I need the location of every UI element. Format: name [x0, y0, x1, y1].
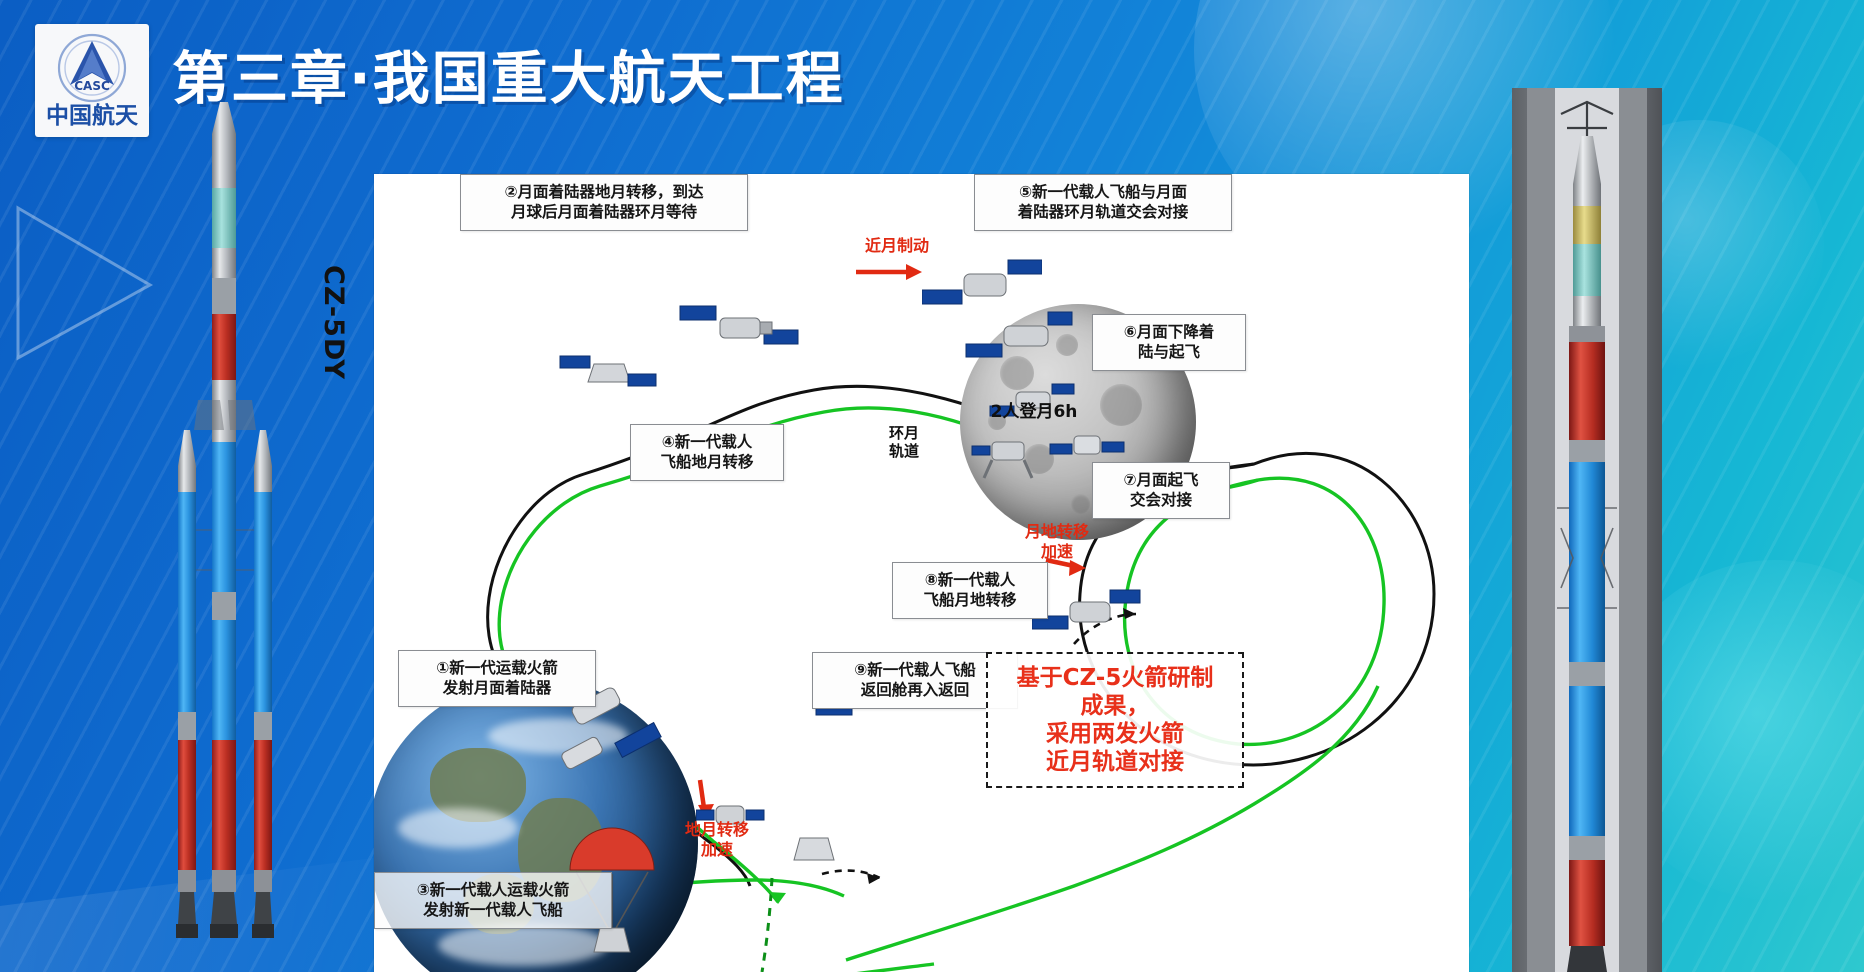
callout-line-4: 近月轨道对接: [996, 748, 1234, 776]
callout-line-1: 基于CZ-5火箭研制: [996, 664, 1234, 692]
step-label-3: ③新一代载人运载火箭发射新一代载人飞船: [374, 872, 612, 929]
casc-emblem-icon: CASC: [44, 32, 140, 106]
annotation-lunar-orbit: 环月轨道: [874, 424, 934, 461]
rocket-name-label: CZ-5DY: [318, 265, 349, 380]
slide-canvas: CASC 中国航天 第三章·我国重大航天工程: [0, 0, 1864, 972]
svg-text:CASC: CASC: [74, 79, 110, 93]
step-label-1: ①新一代运载火箭发射月面着陆器: [398, 650, 596, 707]
annotation-lunar-braking: 近月制动: [842, 236, 952, 256]
step-label-7: ⑦月面起飞交会对接: [1092, 462, 1230, 519]
right-rocket-illustration: [1527, 88, 1647, 972]
step-label-1-line1: ①新一代运载火箭发射月面着陆器: [436, 659, 558, 697]
spacecraft-icon-crew-outbound: [554, 334, 664, 414]
step-label-6: ⑥月面下降着陆与起飞: [1092, 314, 1246, 371]
step-label-7-line1: ⑦月面起飞交会对接: [1123, 471, 1198, 509]
spacecraft-icon-reentry-capsule: [784, 822, 844, 878]
step-label-3-line1: ③新一代载人运载火箭发射新一代载人飞船: [417, 881, 570, 919]
step-label-4: ④新一代载人飞船地月转移: [630, 424, 784, 481]
step-label-2: ②月面着陆器地月转移，到达月球后月面着陆器环月等待: [460, 174, 748, 231]
callout-line-3: 采用两发火箭: [996, 720, 1234, 748]
annotation-crew-duration: 2人登月6h: [964, 402, 1104, 423]
logo-text: 中国航天: [35, 96, 149, 130]
rocket-cz5dy-illustration: [160, 100, 310, 972]
callout-line-2: 成果，: [996, 692, 1234, 720]
spacecraft-icon-rendezvous: [1032, 568, 1142, 658]
step-label-5-line1: ⑤新一代载人飞船与月面着陆器环月轨道交会对接: [1018, 183, 1189, 221]
step-label-8-line1: ⑧新一代载人飞船月地转移: [923, 571, 1016, 609]
callout-cz5-heritage: 基于CZ-5火箭研制 成果， 采用两发火箭 近月轨道对接: [986, 652, 1244, 788]
step-label-4-line1: ④新一代载人飞船地月转移: [660, 433, 753, 471]
casc-logo: CASC 中国航天: [35, 24, 149, 137]
step-label-5: ⑤新一代载人飞船与月面着陆器环月轨道交会对接: [974, 174, 1232, 231]
spacecraft-icon-lander-transfer: [674, 282, 804, 372]
annotation-moon-earth-accel: 月地转移加速: [1002, 522, 1112, 562]
annotation-earth-moon-accel: 地月转移加速: [662, 820, 772, 860]
spacecraft-icon-lunar-lander: [968, 424, 1048, 488]
step-label-9-line1: ⑨新一代载人飞船返回舱再入返回: [854, 661, 976, 699]
mission-profile-diagram: ①新一代运载火箭发射月面着陆器 ②月面着陆器地月转移，到达月球后月面着陆器环月等…: [374, 174, 1469, 972]
step-label-8: ⑧新一代载人飞船月地转移: [892, 562, 1048, 619]
step-label-6-line1: ⑥月面下降着陆与起飞: [1124, 323, 1215, 361]
step-label-2-line1: ②月面着陆器地月转移，到达月球后月面着陆器环月等待: [504, 183, 703, 221]
